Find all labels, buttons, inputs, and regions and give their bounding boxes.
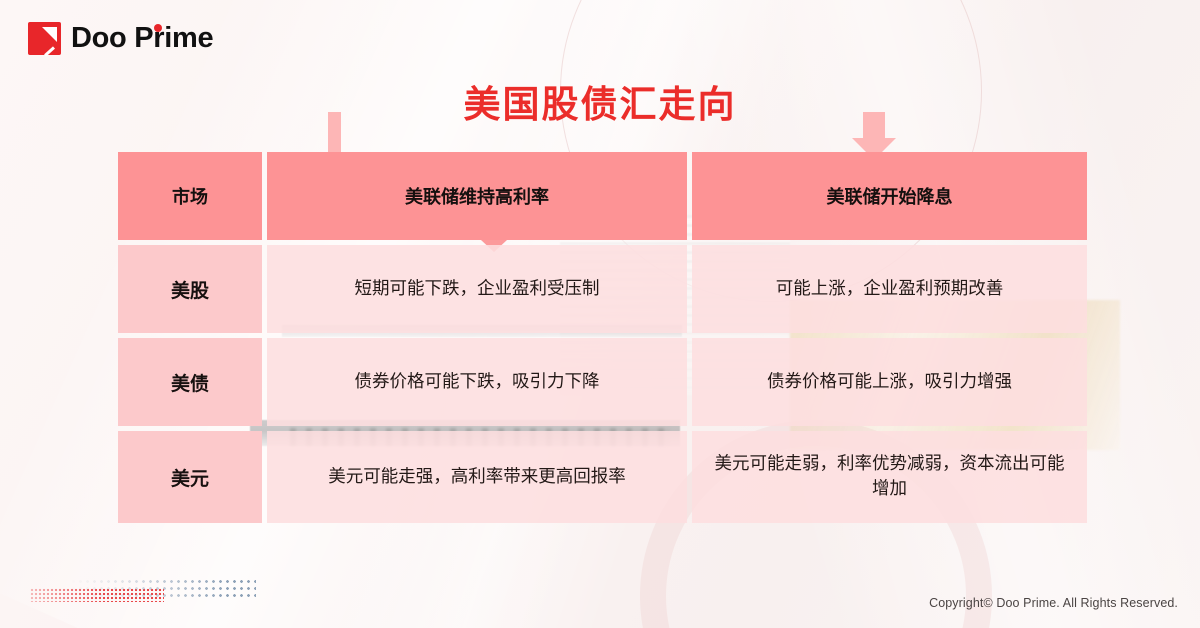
comparison-table: 市场 美联储维持高利率 美联储开始降息 美股 短期可能下跌，企业盈利受压制 可能… [118, 152, 1082, 523]
cell-stocks-hold-high-rate: 短期可能下跌，企业盈利受压制 [267, 245, 687, 333]
brand-name: Doo Prime [71, 22, 213, 55]
halftone-dots-decoration [30, 578, 256, 608]
brand-name-text: Doo Prime [71, 22, 213, 54]
column-header-start-cutting: 美联储开始降息 [692, 152, 1087, 240]
cell-stocks-start-cutting: 可能上涨，企业盈利预期改善 [692, 245, 1087, 333]
brand-logo[interactable]: Doo Prime [28, 22, 213, 55]
halftone-blue-band [70, 578, 256, 600]
doo-prime-logo-icon [28, 22, 61, 55]
cell-bonds-hold-high-rate: 债券价格可能下跌，吸引力下降 [267, 338, 687, 426]
page-title: 美国股债汇走向 [0, 74, 1200, 128]
footer-copyright: Copyright© Doo Prime. All Rights Reserve… [929, 596, 1178, 610]
row-label-usd: 美元 [118, 431, 262, 523]
cell-usd-start-cutting: 美元可能走弱，利率优势减弱，资本流出可能增加 [692, 431, 1087, 523]
logo-accent-dot-icon [154, 24, 162, 32]
column-header-hold-high-rate: 美联储维持高利率 [267, 152, 687, 240]
table-row: 美股 短期可能下跌，企业盈利受压制 可能上涨，企业盈利预期改善 [118, 245, 1082, 333]
table-row: 美债 债券价格可能下跌，吸引力下降 债券价格可能上涨，吸引力增强 [118, 338, 1082, 426]
cell-usd-hold-high-rate: 美元可能走强，高利率带来更高回报率 [267, 431, 687, 523]
row-label-bonds: 美债 [118, 338, 262, 426]
slide-canvas: Doo Prime 美国股债汇走向 市场 美联储维持高利率 美联储开始降息 美股… [0, 0, 1200, 628]
table-row: 美元 美元可能走强，高利率带来更高回报率 美元可能走弱，利率优势减弱，资本流出可… [118, 431, 1082, 523]
cell-bonds-start-cutting: 债券价格可能上涨，吸引力增强 [692, 338, 1087, 426]
column-header-market: 市场 [118, 152, 262, 240]
table-header-row: 市场 美联储维持高利率 美联储开始降息 [118, 152, 1082, 240]
row-label-stocks: 美股 [118, 245, 262, 333]
